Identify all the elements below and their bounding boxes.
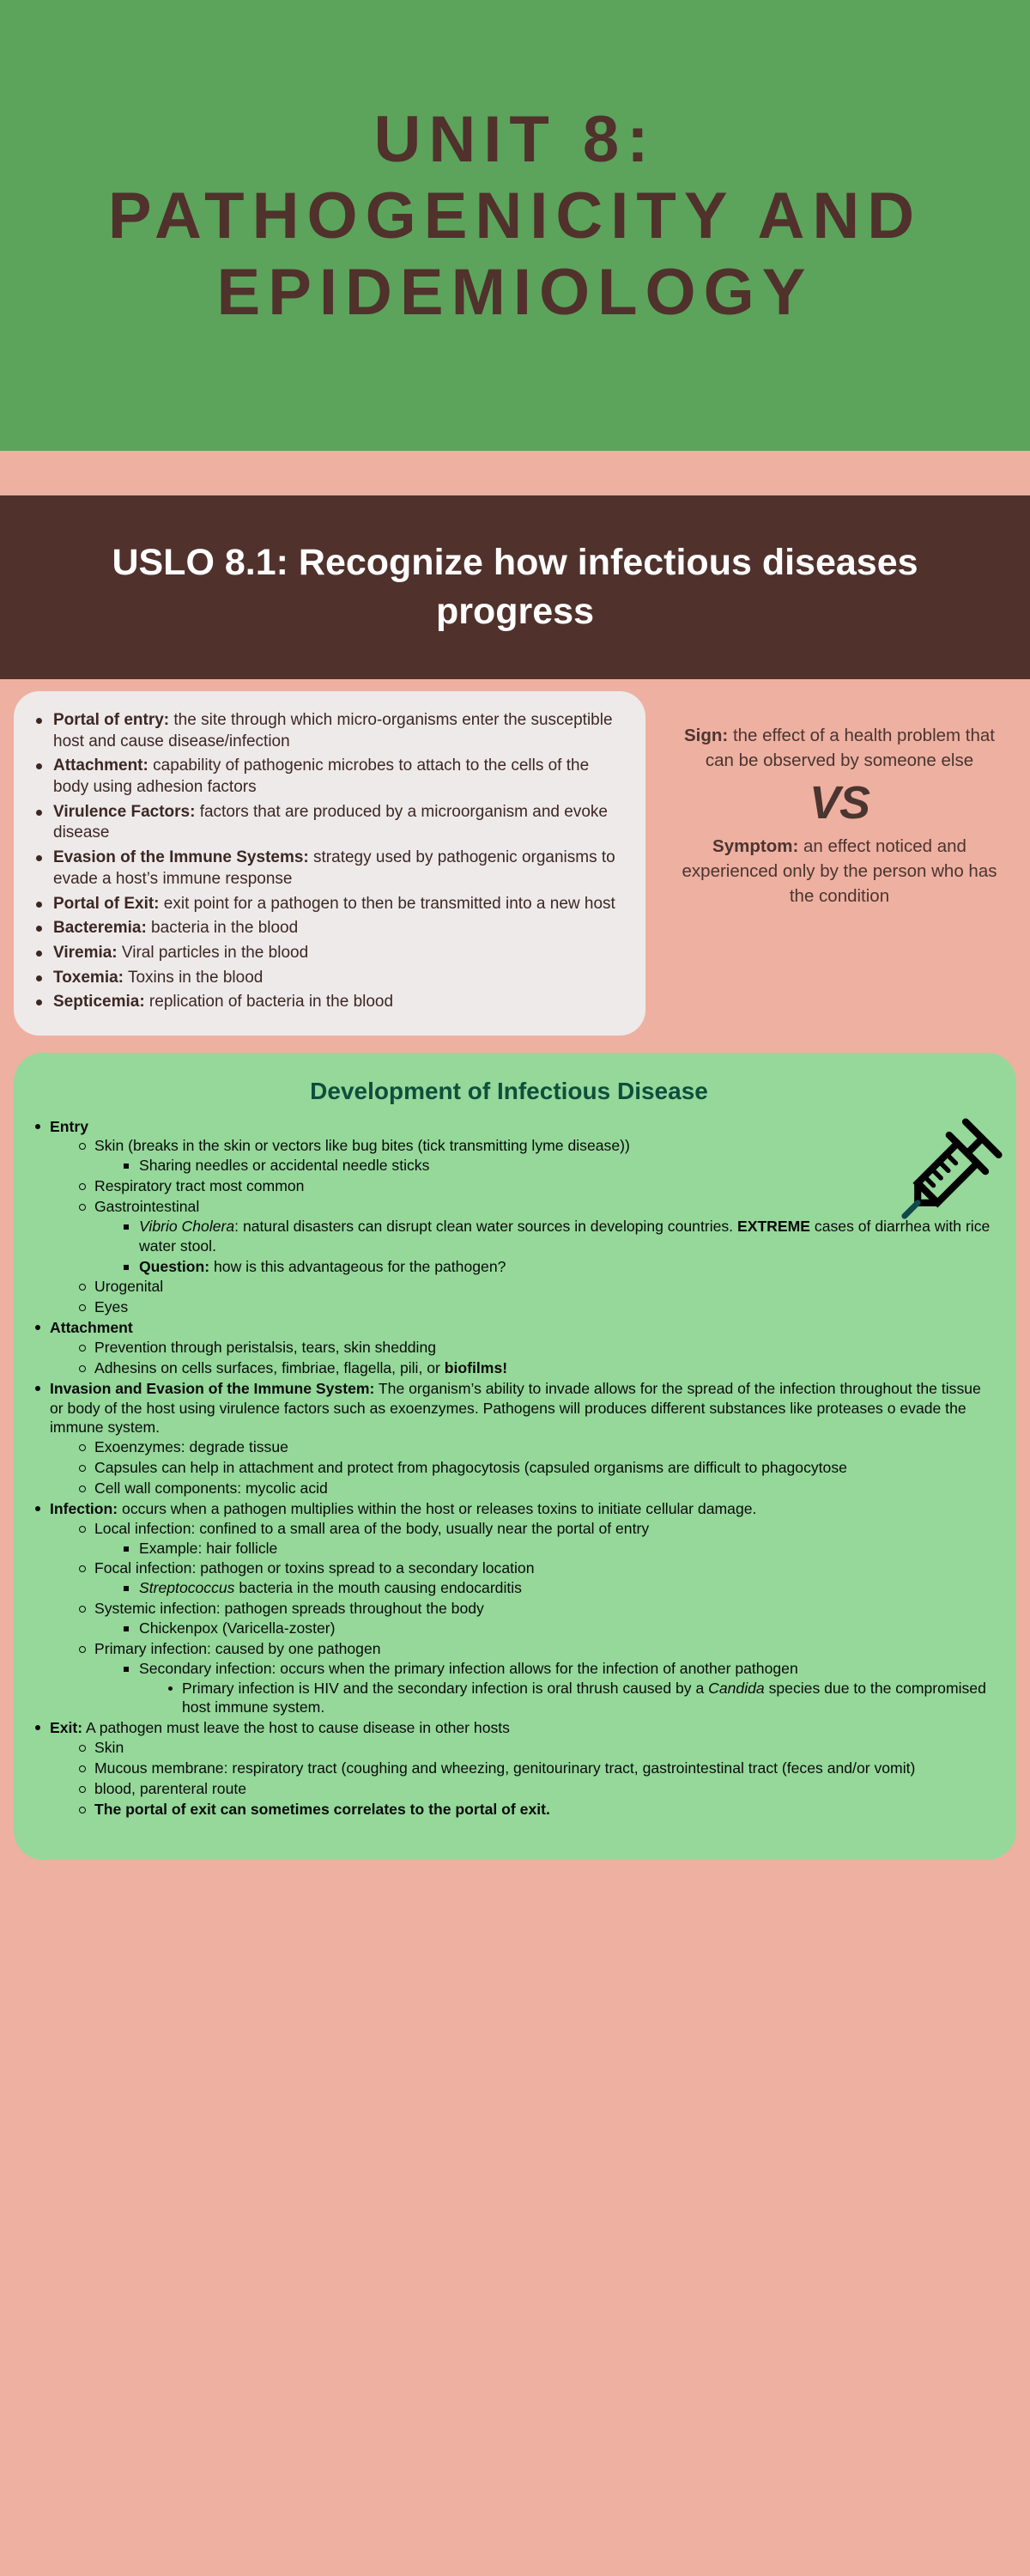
outline-item: Secondary infection: occurs when the pri…: [115, 1659, 991, 1718]
outline-text: how is this advantageous for the pathoge…: [209, 1258, 506, 1275]
outline-item: Capsules can help in attachment and prot…: [70, 1458, 991, 1478]
outline-sublist: Prevention through peristalsis, tears, s…: [70, 1338, 991, 1378]
definitions-card: Portal of entry: the site through which …: [14, 691, 645, 1036]
outline-sublist: Sharing needles or accidental needle sti…: [115, 1156, 991, 1176]
outline-text: Eyes: [94, 1298, 128, 1315]
outline-text: blood, parenteral route: [94, 1780, 246, 1797]
definition-term: Bacteremia:: [53, 919, 147, 937]
outline-text: Respiratory tract most common: [94, 1177, 304, 1194]
outline-emphasis: EXTREME: [737, 1218, 810, 1235]
definition-text: Toxins in the blood: [124, 969, 263, 987]
outline-item: Sharing needles or accidental needle sti…: [115, 1156, 991, 1176]
definition-term: Attachment:: [53, 756, 148, 775]
outline-text: Prevention through peristalsis, tears, s…: [94, 1339, 436, 1356]
outline-item: Infection: occurs when a pathogen multip…: [27, 1499, 991, 1717]
outline-sublist: Exoenzymes: degrade tissueCapsules can h…: [70, 1437, 991, 1498]
outline-item: Exit: A pathogen must leave the host to …: [27, 1718, 991, 1819]
outline-text: Chickenpox (Varicella-zoster): [139, 1619, 335, 1637]
outline-text: Skin: [94, 1739, 124, 1756]
definition-term: Viremia:: [53, 944, 118, 962]
outline-text: Mucous membrane: respiratory tract (coug…: [94, 1759, 915, 1777]
outline-sublist: Streptococcus bacteria in the mouth caus…: [115, 1578, 991, 1598]
definition-term: Virulence Factors:: [53, 803, 195, 821]
outline-text: Exoenzymes: degrade tissue: [94, 1438, 288, 1455]
outline-item: Mucous membrane: respiratory tract (coug…: [70, 1759, 991, 1778]
outline-item: Exoenzymes: degrade tissue: [70, 1437, 991, 1457]
outline-item: Eyes: [70, 1297, 991, 1317]
outline-item: Respiratory tract most common: [70, 1176, 991, 1196]
outline-sublist: Secondary infection: occurs when the pri…: [115, 1659, 991, 1718]
definition-item: Septicemia: replication of bacteria in t…: [27, 992, 623, 1013]
sign-definition: Sign: the effect of a health problem tha…: [669, 724, 1009, 773]
outline-item: Systemic infection: pathogen spreads thr…: [70, 1599, 991, 1638]
outline-item: Chickenpox (Varicella-zoster): [115, 1619, 991, 1638]
outline-text: Cell wall components: mycolic acid: [94, 1479, 328, 1497]
outline-item: Skin: [70, 1738, 991, 1758]
outline-item: Focal infection: pathogen or toxins spre…: [70, 1558, 991, 1598]
outline-text: A pathogen must leave the host to cause …: [82, 1719, 510, 1736]
development-outline: EntrySkin (breaks in the skin or vectors…: [27, 1117, 991, 1820]
uslo-banner-text: USLO 8.1: Recognize how infectious disea…: [103, 538, 927, 636]
symptom-term: Symptom:: [712, 836, 798, 856]
outline-emphasis: Infection:: [50, 1500, 118, 1517]
outline-item: Local infection: confined to a small are…: [70, 1519, 991, 1558]
outline-emphasis: biofilms!: [445, 1359, 507, 1376]
development-card: Development of Infectious Disease: [14, 1053, 1016, 1860]
uslo-banner: USLO 8.1: Recognize how infectious disea…: [0, 495, 1030, 679]
outline-text: Primary infection: caused by one pathoge…: [94, 1640, 381, 1657]
outline-text: Local infection: confined to a small are…: [94, 1520, 649, 1537]
outline-item: blood, parenteral route: [70, 1779, 991, 1799]
outline-text: Focal infection: pathogen or toxins spre…: [94, 1559, 535, 1577]
symptom-definition: Symptom: an effect noticed and experienc…: [669, 835, 1009, 908]
outline-item: Cell wall components: mycolic acid: [70, 1479, 991, 1498]
page-title: UNIT 8: PATHOGENICITY AND EPIDEMIOLOGY: [86, 102, 944, 331]
definition-term: Septicemia:: [53, 993, 145, 1011]
outline-item: Streptococcus bacteria in the mouth caus…: [115, 1578, 991, 1598]
definition-term: Portal of entry:: [53, 711, 169, 729]
outline-text: bacteria in the mouth causing endocardit…: [234, 1579, 521, 1596]
outline-item: Prevention through peristalsis, tears, s…: [70, 1338, 991, 1358]
definitions-row: Portal of entry: the site through which …: [0, 679, 1030, 1036]
definition-term: Toxemia:: [53, 969, 124, 987]
outline-sublist: SkinMucous membrane: respiratory tract (…: [70, 1738, 991, 1819]
sign-term: Sign:: [684, 726, 728, 745]
definition-text: replication of bacteria in the blood: [145, 993, 393, 1011]
definition-term: Evasion of the Immune Systems:: [53, 848, 309, 866]
outline-text: : natural disasters can disrupt clean wa…: [234, 1218, 737, 1235]
outline-item: Urogenital: [70, 1277, 991, 1297]
outline-item: Invasion and Evasion of the Immune Syste…: [27, 1379, 991, 1498]
definition-item: Bacteremia: bacteria in the blood: [27, 918, 623, 939]
sign-vs-symptom-panel: Sign: the effect of a health problem tha…: [645, 691, 1030, 908]
outline-sublist: Example: hair follicle: [115, 1539, 991, 1558]
outline-italic: Candida: [708, 1680, 765, 1697]
definition-item: Portal of Exit: exit point for a pathoge…: [27, 894, 623, 915]
definition-item: Portal of entry: the site through which …: [27, 710, 623, 752]
outline-emphasis: Entry: [50, 1118, 88, 1135]
outline-item: EntrySkin (breaks in the skin or vectors…: [27, 1117, 991, 1318]
definition-text: bacteria in the blood: [147, 919, 298, 937]
definition-item: Toxemia: Toxins in the blood: [27, 968, 623, 989]
definition-item: Viremia: Viral particles in the blood: [27, 943, 623, 964]
outline-item: Example: hair follicle: [115, 1539, 991, 1558]
outline-text: Capsules can help in attachment and prot…: [94, 1459, 847, 1476]
outline-text: Adhesins on cells surfaces, fimbriae, fl…: [94, 1359, 445, 1376]
outline-text: Primary infection is HIV and the seconda…: [182, 1680, 708, 1697]
outline-text: Secondary infection: occurs when the pri…: [139, 1660, 798, 1677]
sign-text: the effect of a health problem that can …: [706, 726, 995, 770]
outline-item: AttachmentPrevention through peristalsis…: [27, 1318, 991, 1378]
definition-term: Portal of Exit:: [53, 895, 160, 913]
outline-item: Primary infection: caused by one pathoge…: [70, 1639, 991, 1717]
definition-item: Virulence Factors: factors that are prod…: [27, 802, 623, 844]
outline-item: Adhesins on cells surfaces, fimbriae, fl…: [70, 1358, 991, 1378]
outline-text: Sharing needles or accidental needle sti…: [139, 1157, 429, 1174]
definitions-list: Portal of entry: the site through which …: [27, 710, 623, 1013]
outline-sublist: Primary infection is HIV and the seconda…: [160, 1679, 991, 1718]
outline-sublist: Vibrio Cholera: natural disasters can di…: [115, 1217, 991, 1277]
outline-item: GastrointestinalVibrio Cholera: natural …: [70, 1197, 991, 1276]
outline-item: Question: how is this advantageous for t…: [115, 1257, 991, 1277]
outline-sublist: Skin (breaks in the skin or vectors like…: [70, 1136, 991, 1317]
outline-text: occurs when a pathogen multiplies within…: [118, 1500, 756, 1517]
outline-emphasis: Attachment: [50, 1319, 133, 1336]
definition-text: Viral particles in the blood: [118, 944, 309, 962]
outline-text: Systemic infection: pathogen spreads thr…: [94, 1600, 484, 1617]
outline-italic: Vibrio Cholera: [139, 1218, 234, 1235]
definition-item: Attachment: capability of pathogenic mic…: [27, 756, 623, 798]
outline-sublist: Local infection: confined to a small are…: [70, 1519, 991, 1718]
outline-item: Vibrio Cholera: natural disasters can di…: [115, 1217, 991, 1256]
outline-italic: Streptococcus: [139, 1579, 234, 1596]
hero-header: UNIT 8: PATHOGENICITY AND EPIDEMIOLOGY: [0, 0, 1030, 451]
outline-emphasis: Invasion and Evasion of the Immune Syste…: [50, 1380, 374, 1397]
outline-text: The portal of exit can sometimes correla…: [94, 1801, 550, 1818]
outline-emphasis: Exit:: [50, 1719, 82, 1736]
outline-item: Primary infection is HIV and the seconda…: [160, 1679, 991, 1718]
outline-text: Skin (breaks in the skin or vectors like…: [94, 1137, 630, 1154]
definition-text: exit point for a pathogen to then be tra…: [160, 895, 615, 913]
vs-label: VS: [669, 780, 1009, 826]
outline-item: The portal of exit can sometimes correla…: [70, 1800, 991, 1820]
development-title: Development of Infectious Disease: [27, 1072, 991, 1117]
outline-sublist: Chickenpox (Varicella-zoster): [115, 1619, 991, 1638]
pink-divider: [0, 451, 1030, 495]
definition-item: Evasion of the Immune Systems: strategy …: [27, 848, 623, 890]
outline-item: Skin (breaks in the skin or vectors like…: [70, 1136, 991, 1176]
outline-emphasis: Question:: [139, 1258, 209, 1275]
outline-text: Urogenital: [94, 1278, 163, 1295]
outline-text: Gastrointestinal: [94, 1198, 199, 1215]
outline-text: Example: hair follicle: [139, 1540, 277, 1557]
poster-page: UNIT 8: PATHOGENICITY AND EPIDEMIOLOGY U…: [0, 0, 1030, 2576]
